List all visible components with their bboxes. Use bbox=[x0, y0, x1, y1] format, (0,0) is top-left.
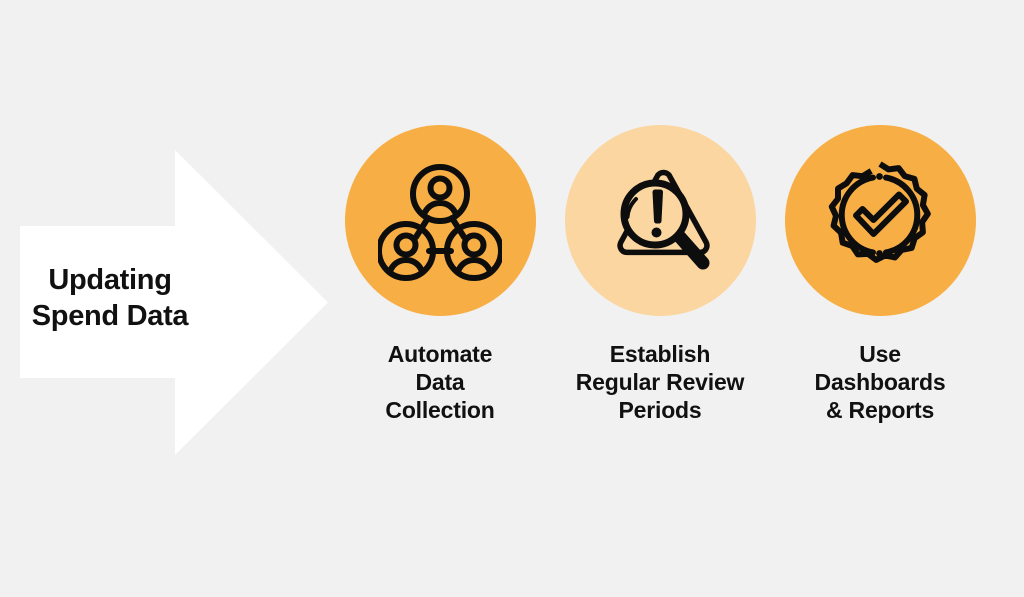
people-network-icon bbox=[378, 159, 502, 283]
warning-magnifier-icon bbox=[598, 159, 722, 283]
step-circle-use-dashboards-and-reports bbox=[785, 125, 976, 316]
steps-row: Automate Data Collection bbox=[340, 125, 980, 435]
step-use-dashboards-and-reports[interactable]: Use Dashboards & Reports bbox=[780, 125, 980, 424]
step-label-automate-data-collection: Automate Data Collection bbox=[385, 340, 494, 424]
step-label-establish-regular-review-periods: Establish Regular Review Periods bbox=[576, 340, 745, 424]
updating-spend-data-arrow: Updating Spend Data bbox=[20, 150, 328, 455]
step-automate-data-collection[interactable]: Automate Data Collection bbox=[340, 125, 540, 424]
step-establish-regular-review-periods[interactable]: Establish Regular Review Periods bbox=[560, 125, 760, 424]
step-label-use-dashboards-and-reports: Use Dashboards & Reports bbox=[815, 340, 946, 424]
infographic-canvas: Updating Spend Data bbox=[0, 0, 1024, 597]
arrow-caption: Updating Spend Data bbox=[30, 262, 190, 334]
verified-badge-check-icon bbox=[818, 159, 942, 283]
step-circle-establish-regular-review-periods bbox=[565, 125, 756, 316]
step-circle-automate-data-collection bbox=[345, 125, 536, 316]
